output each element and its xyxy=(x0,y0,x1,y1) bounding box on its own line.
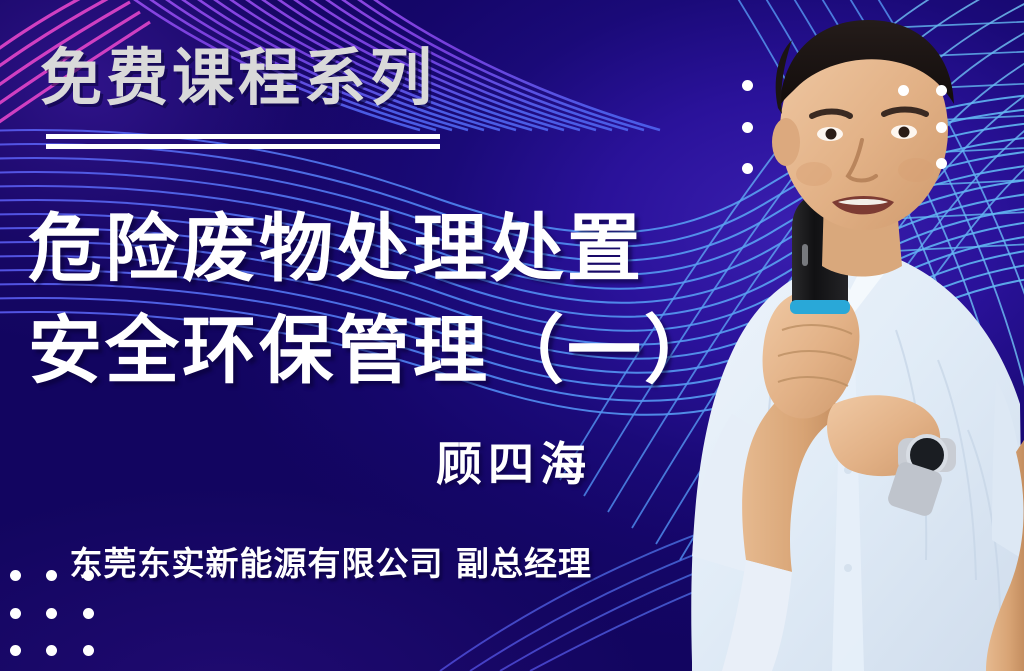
dot xyxy=(46,608,57,619)
course-title: 危险废物处理处置 安全环保管理（一） xyxy=(28,198,721,402)
dot xyxy=(46,570,57,581)
dot xyxy=(46,645,57,656)
dot xyxy=(10,645,21,656)
divider-rules xyxy=(46,134,440,149)
dot xyxy=(742,163,753,174)
dot xyxy=(936,85,947,96)
speaker-name: 顾四海 xyxy=(0,428,592,494)
dot xyxy=(898,85,909,96)
dot xyxy=(10,608,21,619)
course-title-line-1: 危险废物处理处置 xyxy=(28,198,721,300)
divider-line-top xyxy=(46,134,440,139)
header-label: 免费课程系列 xyxy=(40,44,436,112)
head xyxy=(772,20,954,230)
course-poster: 免费课程系列 危险废物处理处置 安全环保管理（一） 顾四海 东莞东实新能源有限公… xyxy=(0,0,1024,671)
dot xyxy=(10,570,21,581)
dot xyxy=(83,608,94,619)
dot xyxy=(936,122,947,133)
dot xyxy=(936,158,947,169)
dot xyxy=(83,645,94,656)
dot xyxy=(83,570,94,581)
divider-line-bottom xyxy=(46,144,440,149)
dot xyxy=(742,80,753,91)
course-title-line-2: 安全环保管理（一） xyxy=(28,300,721,402)
dot xyxy=(742,122,753,133)
